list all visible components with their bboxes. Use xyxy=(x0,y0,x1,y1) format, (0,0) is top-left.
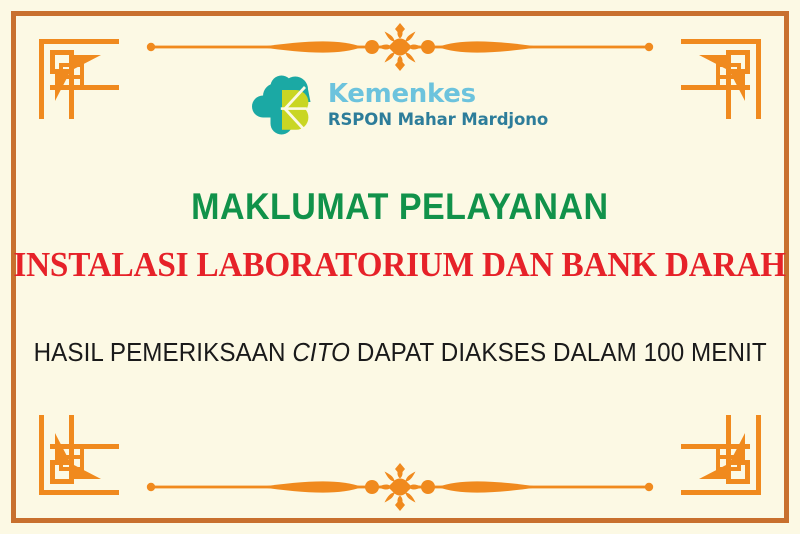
service-statement: HASIL PEMERIKSAAN CITO DAPAT DIAKSES DAL… xyxy=(33,337,766,368)
logo-brand-text: Kemenkes xyxy=(328,81,548,107)
logo-unit-text: RSPON Mahar Mardjono xyxy=(328,112,548,129)
poster-content: Kemenkes RSPON Mahar Mardjono MAKLUMAT P… xyxy=(0,64,800,368)
divider-ornament-bottom xyxy=(140,463,660,511)
maklumat-poster: Kemenkes RSPON Mahar Mardjono MAKLUMAT P… xyxy=(0,0,800,534)
kemenkes-logo-wordmark: Kemenkes RSPON Mahar Mardjono xyxy=(328,81,548,129)
page-title: MAKLUMAT PELAYANAN xyxy=(191,186,608,228)
statement-emphasis: CITO xyxy=(292,337,350,367)
corner-ornament-bottom-left xyxy=(23,415,119,511)
statement-text-after: DAPAT DIAKSES DALAM 100 MENIT xyxy=(350,337,767,367)
kemenkes-logo-lockup: Kemenkes RSPON Mahar Mardjono xyxy=(252,72,548,138)
corner-ornament-bottom-right xyxy=(681,415,777,511)
page-subtitle: INSTALASI LABORATORIUM DAN BANK DARAH xyxy=(14,245,787,285)
kemenkes-petal-logo-icon xyxy=(252,72,314,138)
statement-text-before: HASIL PEMERIKSAAN xyxy=(33,337,292,367)
